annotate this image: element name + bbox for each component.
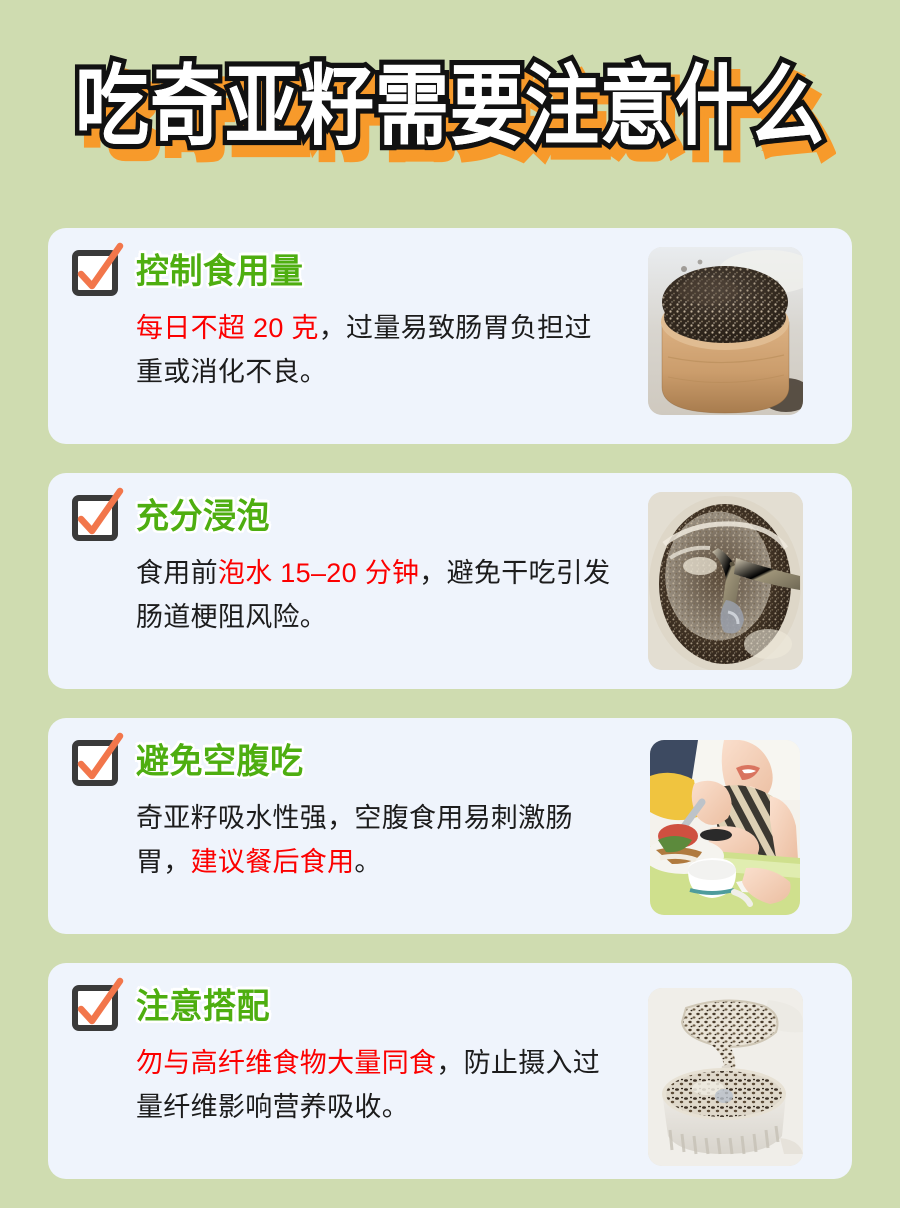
- tip-card[interactable]: 控制食用量 每日不超 20 克，过量易致肠胃负担过重或消化不良。: [48, 228, 852, 444]
- tip-highlight-text: 泡水 15–20 分钟: [218, 558, 419, 588]
- tips-card-list: 控制食用量 每日不超 20 克，过量易致肠胃负担过重或消化不良。: [48, 228, 852, 1208]
- tip-card-content: 充分浸泡 食用前泡水 15–20 分钟，避免干吃引发肠道梗阻风险。: [70, 491, 632, 639]
- checkbox-checked-icon: [70, 489, 124, 543]
- tip-card-heading: 控制食用量: [136, 246, 304, 296]
- checkbox-checked-icon: [70, 244, 124, 298]
- person-eating-meal-photo: [650, 740, 800, 915]
- tip-highlight-text: 每日不超 20 克: [136, 313, 319, 343]
- tip-card-content: 注意搭配 勿与高纤维食物大量同食，防止摄入过量纤维影响营养吸收。: [70, 981, 632, 1129]
- checkbox-checked-icon: [70, 979, 124, 1033]
- tip-card-body: 食用前泡水 15–20 分钟，避免干吃引发肠道梗阻风险。: [136, 551, 616, 639]
- tip-highlight-text: 勿与高纤维食物大量同食: [136, 1048, 436, 1078]
- tip-card[interactable]: 避免空腹吃 奇亚籽吸水性强，空腹食用易刺激肠胃，建议餐后食用。: [48, 718, 852, 934]
- page-title-text: 吃奇亚籽需要注意什么 吃奇亚籽需要注意什么 吃奇亚籽需要注意什么: [75, 63, 825, 150]
- tip-highlight-text: 建议餐后食用: [191, 847, 355, 877]
- tip-card-header: 注意搭配: [70, 981, 632, 1033]
- checkbox-checked-icon: [70, 734, 124, 788]
- tip-card[interactable]: 充分浸泡 食用前泡水 15–20 分钟，避免干吃引发肠道梗阻风险。: [48, 473, 852, 689]
- soaked-chia-spoon-photo: [648, 492, 803, 670]
- chia-seeds-wooden-bowl-photo: [648, 247, 803, 415]
- tip-card-header: 充分浸泡: [70, 491, 632, 543]
- page-title-fill-layer: 吃奇亚籽需要注意什么: [75, 56, 825, 157]
- tip-card-header: 控制食用量: [70, 246, 632, 298]
- tip-normal-text: 食用前: [136, 558, 218, 588]
- tip-card-header: 避免空腹吃: [70, 736, 632, 788]
- tip-card-body: 奇亚籽吸水性强，空腹食用易刺激肠胃，建议餐后食用。: [136, 796, 616, 884]
- tip-card-body: 每日不超 20 克，过量易致肠胃负担过重或消化不良。: [136, 306, 616, 394]
- tip-card-content: 避免空腹吃 奇亚籽吸水性强，空腹食用易刺激肠胃，建议餐后食用。: [70, 736, 632, 884]
- tip-card-content: 控制食用量 每日不超 20 克，过量易致肠胃负担过重或消化不良。: [70, 246, 632, 394]
- tip-card-heading: 避免空腹吃: [136, 736, 304, 786]
- tip-normal-text: 。: [354, 847, 381, 877]
- page-title: 吃奇亚籽需要注意什么 吃奇亚籽需要注意什么 吃奇亚籽需要注意什么: [0, 52, 900, 162]
- tip-card-heading: 充分浸泡: [136, 491, 270, 541]
- chia-gel-pouring-photo: [648, 988, 803, 1166]
- tip-card-body: 勿与高纤维食物大量同食，防止摄入过量纤维影响营养吸收。: [136, 1041, 616, 1129]
- tip-card[interactable]: 注意搭配 勿与高纤维食物大量同食，防止摄入过量纤维影响营养吸收。: [48, 963, 852, 1179]
- tip-card-heading: 注意搭配: [136, 981, 270, 1031]
